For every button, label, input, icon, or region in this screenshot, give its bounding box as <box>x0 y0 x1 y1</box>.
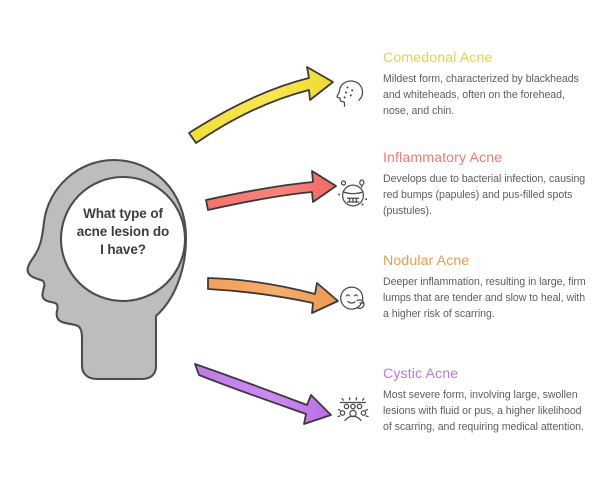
center-question-text: What type of acne lesion do I have? <box>60 205 186 258</box>
branch-body-inflammatory: Develops due to bacterial infection, cau… <box>333 172 589 220</box>
arrow-nodular <box>208 278 338 313</box>
branch-desc-cystic: Most severe form, involving large, swoll… <box>383 388 589 436</box>
face-with-cysts-icon <box>333 389 373 429</box>
branch-title-nodular: Nodular Acne <box>383 253 589 269</box>
branch-body-comedonal: Mildest form, characterized by blackhead… <box>333 72 589 120</box>
diagram-stage: What type of acne lesion do I have? Come… <box>0 0 600 499</box>
branch-title-comedonal: Comedonal Acne <box>383 50 589 66</box>
branch-body-cystic: Most severe form, involving large, swoll… <box>333 388 589 436</box>
branch-body-nodular: Deeper inflammation, resulting in large,… <box>333 275 589 323</box>
arrow-cystic <box>195 364 331 424</box>
branch-inflammatory: Inflammatory Acne <box>333 150 589 220</box>
face-with-nodule-icon <box>333 276 373 316</box>
branch-desc-comedonal: Mildest form, characterized by blackhead… <box>383 72 589 120</box>
center-question-line-1: What type of <box>60 205 186 223</box>
face-with-red-bumps-icon <box>333 173 373 213</box>
center-question-line-2: acne lesion do <box>60 223 186 241</box>
branch-title-cystic: Cystic Acne <box>383 366 589 382</box>
head-with-comedones-icon <box>333 73 373 113</box>
acne-type-infographic: What type of acne lesion do I have? Come… <box>0 0 600 499</box>
branch-desc-inflammatory: Develops due to bacterial infection, cau… <box>383 172 589 220</box>
center-question-line-3: I have? <box>60 241 186 259</box>
head-silhouette-icon <box>28 160 186 379</box>
arrow-inflammatory <box>206 171 336 210</box>
branch-desc-nodular: Deeper inflammation, resulting in large,… <box>383 275 589 323</box>
branch-nodular: Nodular Acne Deeper inflammation, result… <box>333 253 589 323</box>
arrow-comedonal <box>189 67 333 143</box>
branch-title-inflammatory: Inflammatory Acne <box>383 150 589 166</box>
branch-cystic: Cystic Acne Mos <box>333 366 589 436</box>
branch-comedonal: Comedonal Acne Mildest form, cha <box>333 50 589 120</box>
